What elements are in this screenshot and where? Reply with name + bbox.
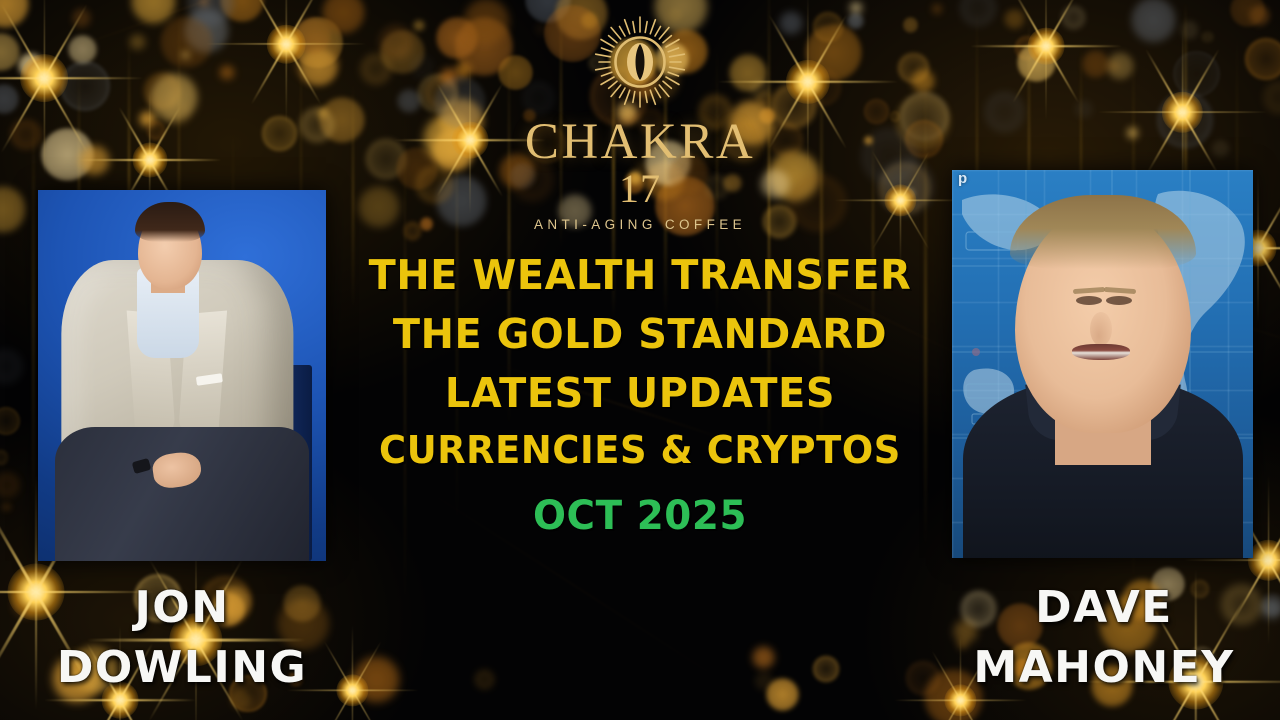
eye-left xyxy=(1076,296,1102,305)
headline-date: OCT 2025 xyxy=(345,488,935,546)
guest-name-right: DAVE MAHONEY xyxy=(946,578,1262,698)
mouth-shape xyxy=(1072,344,1130,360)
guest-first-name: DAVE xyxy=(946,578,1262,638)
guest-photo-jon-dowling xyxy=(38,190,326,561)
guest-first-name: JON xyxy=(32,578,332,638)
headline-block: THE WEALTH TRANSFER THE GOLD STANDARD LA… xyxy=(336,246,944,545)
brand-logo: CHAKRA 17 ANTI-AGING COFFEE xyxy=(0,8,1280,232)
guest-name-left: JON DOWLING xyxy=(32,578,332,698)
eyebrow-left xyxy=(1072,287,1104,294)
brand-name: CHAKRA xyxy=(0,118,1280,168)
headline-line-3: LATEST UPDATES xyxy=(345,364,935,423)
headline-line-4: CURRENCIES & CRYPTOS xyxy=(345,423,935,478)
nose-shape xyxy=(1090,312,1112,346)
headline-line-2: THE GOLD STANDARD xyxy=(345,305,935,364)
eyebrow-right xyxy=(1104,287,1136,294)
headline-line-1: THE WEALTH TRANSFER xyxy=(345,246,935,305)
guest-last-name: MAHONEY xyxy=(946,638,1262,698)
brand-tagline: ANTI-AGING COFFEE xyxy=(0,217,1280,232)
coffee-bean-sunburst-icon xyxy=(585,8,695,116)
thumbnail-canvas: CHAKRA 17 ANTI-AGING COFFEE xyxy=(0,0,1280,720)
eye-right xyxy=(1106,296,1132,305)
jeans-shape xyxy=(55,427,308,561)
guest-last-name: DOWLING xyxy=(32,638,332,698)
brand-number: 17 xyxy=(0,168,1280,210)
